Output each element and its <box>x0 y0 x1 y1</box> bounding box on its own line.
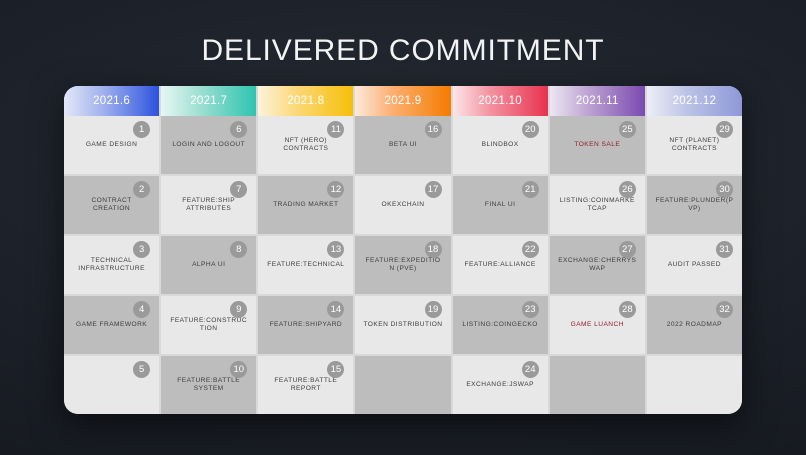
milestone-label: FEATURE:BATTLE SYSTEM <box>169 377 248 393</box>
month-column-2021-9: 16BETA UI17OKEXCHAIN18FEATURE:EXPEDITION… <box>355 116 450 414</box>
milestone-number-badge: 3 <box>133 241 150 258</box>
month-column-2021-7: 6LOGIN AND LOGOUT7FEATURE:SHIP ATTRIBUTE… <box>161 116 256 414</box>
milestone-number-badge: 27 <box>619 241 636 258</box>
milestone-number-badge: 9 <box>230 301 247 318</box>
milestone-number-badge: 21 <box>522 181 539 198</box>
milestone-number-badge: 31 <box>716 241 733 258</box>
month-header-2021-10[interactable]: 2021.10 <box>453 86 548 116</box>
milestone-cell[interactable]: 28GAME LUANCH <box>550 296 645 354</box>
milestone-number-badge: 18 <box>425 241 442 258</box>
milestone-number-badge: 4 <box>133 301 150 318</box>
milestone-label: TECHNICAL INFRASTRUCTURE <box>72 257 151 273</box>
milestone-label: BLINDBOX <box>482 141 519 149</box>
milestone-label: LISTING:COINMARKETCAP <box>558 197 637 213</box>
milestone-cell[interactable]: 30FEATURE:PLUNDER(PVP) <box>647 176 742 234</box>
month-header-2021-11[interactable]: 2021.11 <box>550 86 645 116</box>
milestone-label: TOKEN DISTRIBUTION <box>363 321 442 329</box>
milestone-cell[interactable]: 17OKEXCHAIN <box>355 176 450 234</box>
milestone-number-badge: 14 <box>327 301 344 318</box>
milestone-number-badge: 16 <box>425 121 442 138</box>
milestone-number-badge: 1 <box>133 121 150 138</box>
milestone-number-badge: 28 <box>619 301 636 318</box>
month-column-2021-12: 29NFT (PLANET) CONTRACTS30FEATURE:PLUNDE… <box>647 116 742 414</box>
empty-cell <box>647 356 742 414</box>
milestone-cell[interactable]: 24EXCHANGE:JSWAP <box>453 356 548 414</box>
milestone-label: FEATURE:BATTLE REPORT <box>266 377 345 393</box>
milestone-cell[interactable]: 23LISTING:COINGECKO <box>453 296 548 354</box>
empty-cell <box>550 356 645 414</box>
milestone-label: GAME FRAMEWORK <box>76 321 147 329</box>
milestone-cell[interactable]: 14FEATURE:SHIPYARD <box>258 296 353 354</box>
milestone-label: FEATURE:SHIP ATTRIBUTES <box>169 197 248 213</box>
milestone-cell[interactable]: 26LISTING:COINMARKETCAP <box>550 176 645 234</box>
milestone-number-badge: 30 <box>716 181 733 198</box>
milestone-number-badge: 2 <box>133 181 150 198</box>
empty-cell <box>355 356 450 414</box>
milestone-cell[interactable]: 10FEATURE:BATTLE SYSTEM <box>161 356 256 414</box>
milestone-label: LISTING:COINGECKO <box>462 321 537 329</box>
milestone-cell[interactable]: 21FINAL UI <box>453 176 548 234</box>
milestone-number-badge: 10 <box>230 361 247 378</box>
milestone-number-badge: 12 <box>327 181 344 198</box>
milestone-number-badge: 25 <box>619 121 636 138</box>
page-title: DELIVERED COMMITMENT <box>0 34 806 68</box>
milestone-cell[interactable]: 4GAME FRAMEWORK <box>64 296 159 354</box>
milestone-cell[interactable]: 5 <box>64 356 159 414</box>
milestone-number-badge: 29 <box>716 121 733 138</box>
milestone-number-badge: 20 <box>522 121 539 138</box>
month-header-label: 2021.7 <box>190 95 227 107</box>
month-column-2021-8: 11NFT (HERO) CONTRACTS12TRADING MARKET13… <box>258 116 353 414</box>
milestone-label: FEATURE:ALLIANCE <box>465 261 536 269</box>
milestone-cell[interactable]: 7FEATURE:SHIP ATTRIBUTES <box>161 176 256 234</box>
month-header-label: 2021.10 <box>478 95 522 107</box>
month-header-2021-9[interactable]: 2021.9 <box>355 86 450 116</box>
month-header-2021-6[interactable]: 2021.6 <box>64 86 159 116</box>
milestone-cell[interactable]: 9FEATURE:CONSTRUCTION <box>161 296 256 354</box>
milestone-label: ALPHA UI <box>192 261 225 269</box>
milestone-number-badge: 19 <box>425 301 442 318</box>
milestone-label: AUDIT PASSED <box>668 261 721 269</box>
month-header-row: 2021.62021.72021.82021.92021.102021.1120… <box>64 86 742 116</box>
milestone-cell[interactable]: 22FEATURE:ALLIANCE <box>453 236 548 294</box>
milestone-cell[interactable]: 31AUDIT PASSED <box>647 236 742 294</box>
month-header-label: 2021.12 <box>673 95 717 107</box>
milestone-cell[interactable]: 27EXCHANGE:CHERRYSWAP <box>550 236 645 294</box>
milestone-number-badge: 23 <box>522 301 539 318</box>
milestone-label: CONTRACT CREATION <box>72 197 151 213</box>
milestone-number-badge: 17 <box>425 181 442 198</box>
milestone-number-badge: 15 <box>327 361 344 378</box>
milestone-label: FEATURE:EXPEDITION (PVE) <box>363 257 442 273</box>
milestone-number-badge: 32 <box>716 301 733 318</box>
milestone-cell[interactable]: 8ALPHA UI <box>161 236 256 294</box>
milestone-label: FEATURE:PLUNDER(PVP) <box>655 197 734 213</box>
month-header-2021-8[interactable]: 2021.8 <box>258 86 353 116</box>
milestone-label: GAME LUANCH <box>571 321 624 329</box>
milestone-label: FEATURE:SHIPYARD <box>270 321 343 329</box>
milestone-cell[interactable]: 16BETA UI <box>355 116 450 174</box>
milestone-label: TOKEN SALE <box>574 141 620 149</box>
milestone-label: 2022 ROADMAP <box>667 321 722 329</box>
milestone-label: EXCHANGE:JSWAP <box>466 381 534 389</box>
milestone-label: NFT (PLANET) CONTRACTS <box>655 137 734 153</box>
milestone-label: OKEXCHAIN <box>382 201 425 209</box>
month-column-2021-6: 1GAME DESIGN2CONTRACT CREATION3TECHNICAL… <box>64 116 159 414</box>
milestone-number-badge: 11 <box>327 121 344 138</box>
milestone-label: LOGIN AND LOGOUT <box>172 141 245 149</box>
milestone-number-badge: 6 <box>230 121 247 138</box>
roadmap-board: 2021.62021.72021.82021.92021.102021.1120… <box>64 86 742 414</box>
milestone-cell[interactable]: 29NFT (PLANET) CONTRACTS <box>647 116 742 174</box>
milestone-cell[interactable]: 322022 ROADMAP <box>647 296 742 354</box>
milestone-label: FINAL UI <box>485 201 515 209</box>
milestone-cell[interactable]: 18FEATURE:EXPEDITION (PVE) <box>355 236 450 294</box>
milestone-number-badge: 5 <box>133 361 150 378</box>
roadmap-page: DELIVERED COMMITMENT 2021.62021.72021.82… <box>0 0 806 455</box>
milestone-label: EXCHANGE:CHERRYSWAP <box>558 257 637 273</box>
milestone-label: TRADING MARKET <box>273 201 338 209</box>
milestone-number-badge: 13 <box>327 241 344 258</box>
milestone-cell[interactable]: 6LOGIN AND LOGOUT <box>161 116 256 174</box>
month-header-label: 2021.9 <box>385 95 422 107</box>
milestone-cell[interactable]: 2CONTRACT CREATION <box>64 176 159 234</box>
milestone-cell[interactable]: 19TOKEN DISTRIBUTION <box>355 296 450 354</box>
milestone-cell[interactable]: 25TOKEN SALE <box>550 116 645 174</box>
milestone-label: BETA UI <box>389 141 417 149</box>
milestone-label: FEATURE:TECHNICAL <box>267 261 344 269</box>
milestone-number-badge: 24 <box>522 361 539 378</box>
milestone-number-badge: 7 <box>230 181 247 198</box>
milestone-cell[interactable]: 13FEATURE:TECHNICAL <box>258 236 353 294</box>
month-header-2021-12[interactable]: 2021.12 <box>647 86 742 116</box>
milestone-label: NFT (HERO) CONTRACTS <box>266 137 345 153</box>
milestone-cell[interactable]: 15FEATURE:BATTLE REPORT <box>258 356 353 414</box>
month-header-label: 2021.6 <box>93 95 130 107</box>
milestone-cell[interactable]: 3TECHNICAL INFRASTRUCTURE <box>64 236 159 294</box>
milestone-number-badge: 26 <box>619 181 636 198</box>
month-header-label: 2021.11 <box>576 95 619 107</box>
month-column-2021-11: 25TOKEN SALE26LISTING:COINMARKETCAP27EXC… <box>550 116 645 414</box>
milestone-number-badge: 8 <box>230 241 247 258</box>
roadmap-grid: 1GAME DESIGN2CONTRACT CREATION3TECHNICAL… <box>64 116 742 414</box>
milestone-label: GAME DESIGN <box>86 141 137 149</box>
milestone-cell[interactable]: 20BLINDBOX <box>453 116 548 174</box>
month-column-2021-10: 20BLINDBOX21FINAL UI22FEATURE:ALLIANCE23… <box>453 116 548 414</box>
month-header-label: 2021.8 <box>287 95 324 107</box>
milestone-cell[interactable]: 12TRADING MARKET <box>258 176 353 234</box>
month-header-2021-7[interactable]: 2021.7 <box>161 86 256 116</box>
milestone-cell[interactable]: 11NFT (HERO) CONTRACTS <box>258 116 353 174</box>
milestone-label: FEATURE:CONSTRUCTION <box>169 317 248 333</box>
milestone-cell[interactable]: 1GAME DESIGN <box>64 116 159 174</box>
milestone-number-badge: 22 <box>522 241 539 258</box>
